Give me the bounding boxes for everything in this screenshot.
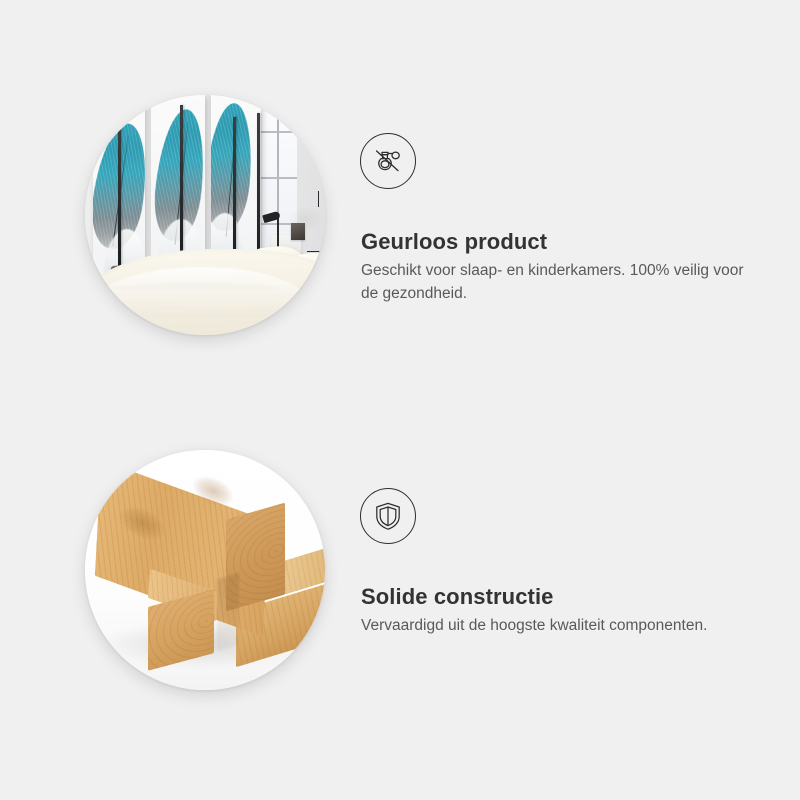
- product-feature-page: Geurloos product Geschikt voor slaap- en…: [0, 0, 800, 800]
- beam-gap-shadow: [217, 573, 239, 651]
- canvas-panel-3: [211, 95, 261, 271]
- photo-content: [85, 95, 325, 335]
- photo-content: [85, 450, 325, 690]
- feature-photo-feather-canvas-bedroom-photo: [85, 95, 325, 335]
- feature-description: Geschikt voor slaap- en kinderkamers. 10…: [361, 259, 753, 305]
- feature-block-solide-constructie: Solide constructie Vervaardigd uit de ho…: [0, 400, 800, 750]
- pendant-lamp-cord: [307, 199, 325, 252]
- wooden-beams-scene: [85, 450, 325, 690]
- circular-photo-frame: [85, 450, 325, 690]
- feature-photo-wooden-beams-photo: [85, 450, 325, 690]
- feature-block-geurloos-product: Geurloos product Geschikt voor slaap- en…: [0, 45, 800, 395]
- feature-title: Geurloos product: [361, 229, 547, 255]
- feature-title: Solide constructie: [361, 584, 554, 610]
- picture-frame: [291, 223, 305, 240]
- no-fragrance-icon: [360, 133, 416, 189]
- feature-description: Vervaardigd uit de hoogste kwaliteit com…: [361, 614, 753, 637]
- bedroom-scene: [85, 95, 325, 335]
- duvet-fold: [97, 267, 307, 317]
- shield-icon: [360, 488, 416, 544]
- plant: [323, 143, 325, 165]
- circular-photo-frame: [85, 95, 325, 335]
